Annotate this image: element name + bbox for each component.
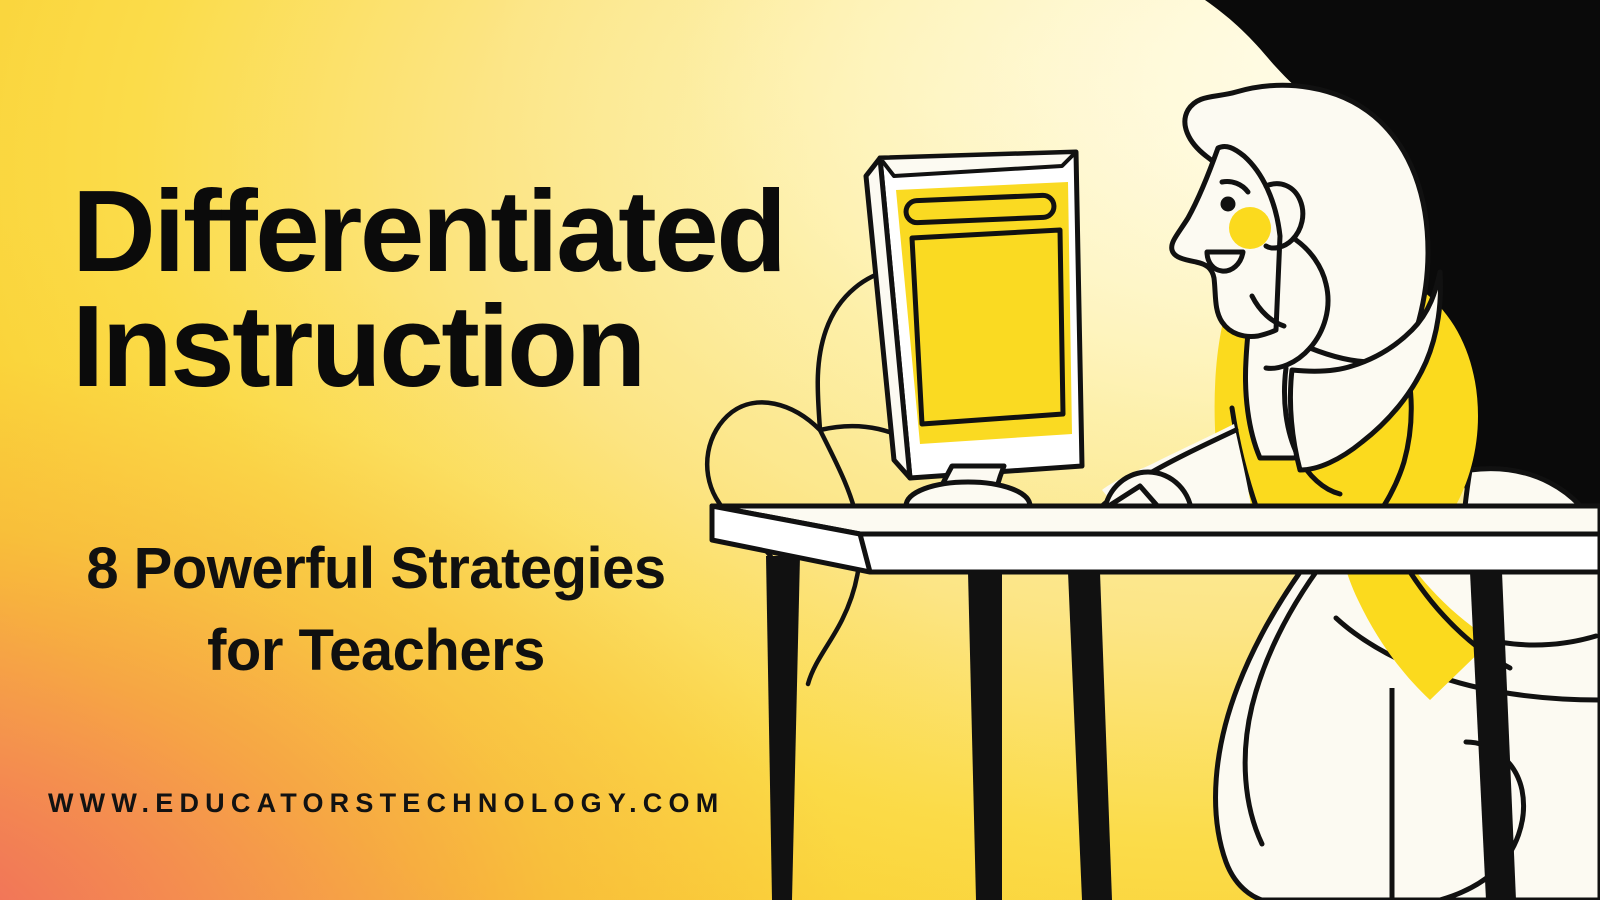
desk-leg-left bbox=[766, 556, 800, 900]
desk-leg-mid bbox=[968, 572, 1002, 900]
desk-leg-mid2 bbox=[1068, 572, 1112, 900]
poster-canvas: Differentiated Instruction 8 Powerful St… bbox=[0, 0, 1600, 900]
scene-illustration bbox=[0, 0, 1600, 900]
woman-eye bbox=[1221, 197, 1236, 212]
desktop-monitor bbox=[866, 152, 1082, 526]
woman-blush bbox=[1229, 207, 1271, 249]
